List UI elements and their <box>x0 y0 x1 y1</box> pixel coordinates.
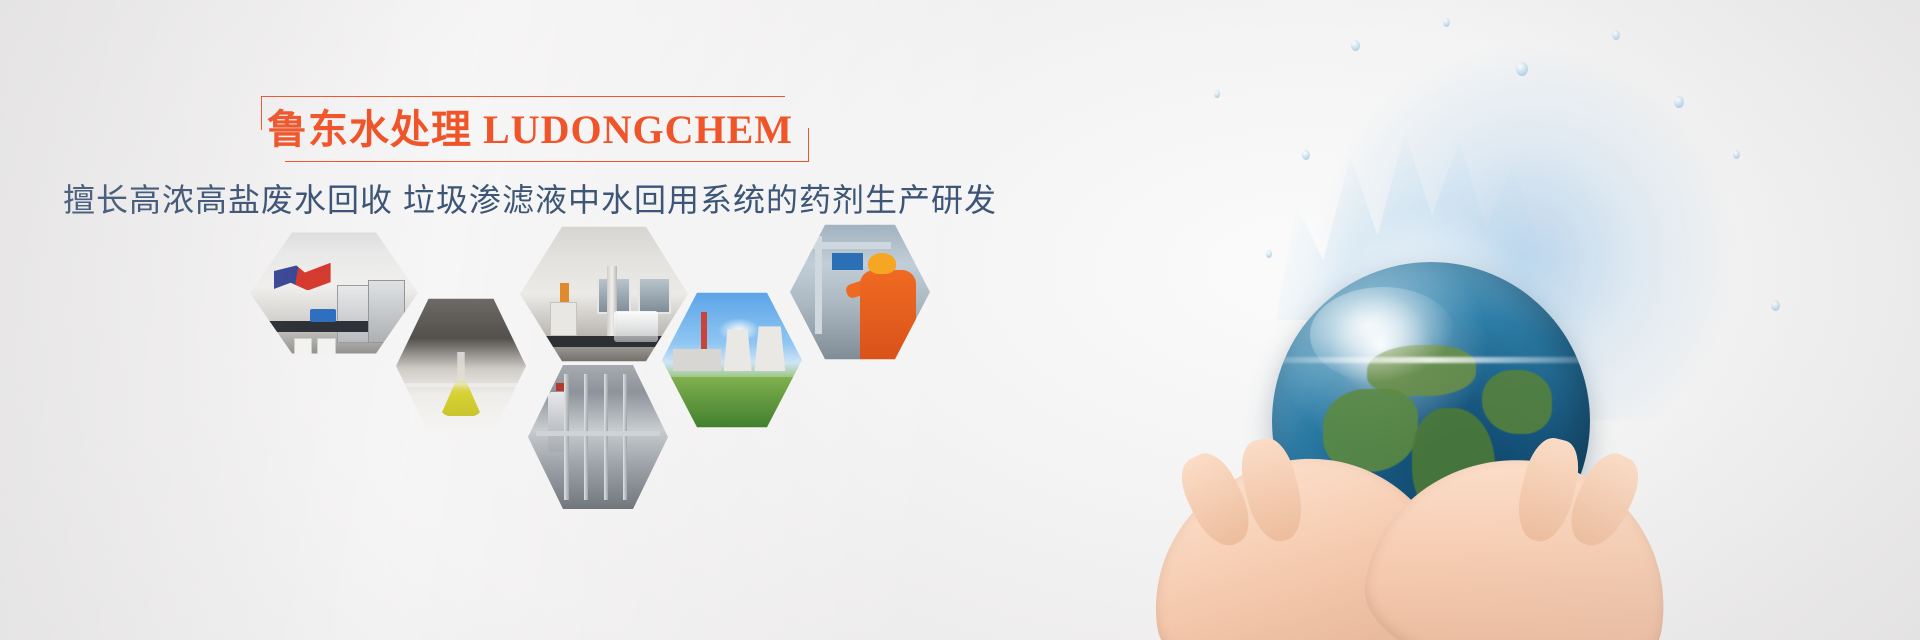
hex-image-power-plant <box>662 290 802 430</box>
lab-equipment-rack <box>368 280 405 343</box>
hex-image-worker <box>790 222 930 362</box>
hex-tile-industrial-pipes[interactable] <box>528 362 668 512</box>
hex-image-pipes <box>528 362 668 512</box>
hex-image-glassware <box>520 224 688 364</box>
water-droplet <box>1302 150 1310 160</box>
worker-orange-uniform <box>860 270 916 362</box>
hexagon-gallery <box>0 0 1060 640</box>
cooling-tower <box>724 329 752 371</box>
pipe <box>564 374 568 500</box>
hex-image-lab-room <box>250 230 418 356</box>
water-droplet <box>1443 18 1450 27</box>
chemical-jug <box>294 338 312 356</box>
hex-tile-worker[interactable] <box>790 222 930 362</box>
wall-slogan-graphic <box>274 263 331 291</box>
hex-tile-lab-glassware[interactable] <box>520 224 688 364</box>
lab-cabinet <box>550 302 577 336</box>
hero-banner: 鲁东水处理 LUDONGCHEM 擅长高浓高盐废水回收 垃圾渗滤液中水回用系统的… <box>0 0 1920 640</box>
pipe <box>623 374 627 500</box>
pipe <box>604 374 608 500</box>
hex-image-flask <box>396 296 526 436</box>
hex-tile-flask-yellow[interactable] <box>396 296 526 436</box>
green-field <box>662 377 802 430</box>
globe-highlight <box>1310 287 1456 382</box>
water-droplet <box>1351 40 1360 51</box>
window-pane <box>638 277 672 313</box>
hex-tile-lab-room[interactable] <box>250 230 418 356</box>
lab-bench <box>263 321 367 332</box>
blue-control-panel <box>832 253 863 270</box>
blue-apparatus <box>310 309 335 322</box>
water-droplet <box>1733 150 1740 159</box>
vertical-pipe <box>815 236 822 334</box>
water-droplet <box>1516 62 1528 76</box>
water-droplet <box>1674 96 1684 108</box>
lab-bench <box>520 336 688 347</box>
landmass <box>1482 370 1552 434</box>
chemical-jug <box>317 338 335 356</box>
pipe-rail <box>536 431 659 436</box>
glassware-set <box>614 311 658 342</box>
water-droplet <box>1612 30 1620 40</box>
water-droplet <box>1771 300 1780 311</box>
water-globe-artwork <box>1020 0 1920 640</box>
hex-tile-power-plant[interactable] <box>662 290 802 430</box>
pipe <box>584 374 588 500</box>
cooling-tower <box>754 326 785 371</box>
safety-helmet <box>868 253 896 274</box>
plant-building <box>673 349 721 371</box>
water-droplet <box>1214 90 1220 98</box>
hands-holding-globe <box>1150 430 1670 640</box>
water-droplet <box>1266 250 1272 258</box>
